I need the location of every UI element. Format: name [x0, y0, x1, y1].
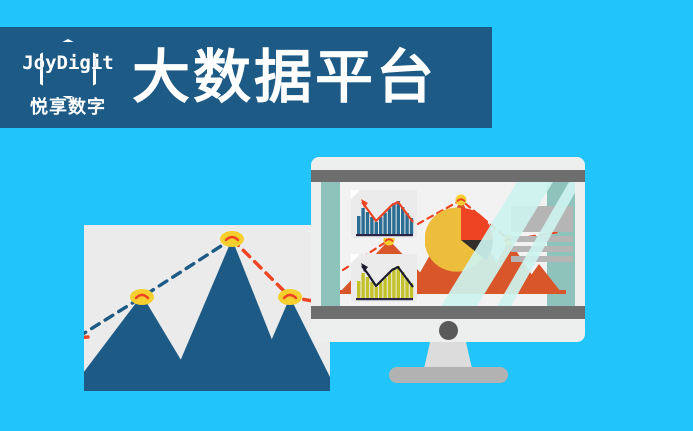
bar-chart-card-blue [351, 190, 417, 238]
monitor-bezel-bottom [311, 306, 585, 319]
document-line [511, 236, 573, 242]
page-title: 大数据平台 [132, 45, 437, 111]
brand-logo: JoyDigit 悦享数字 [14, 35, 122, 121]
document-line [511, 256, 573, 262]
pie-slice-b [461, 208, 493, 240]
blue-mountain-chart [84, 225, 330, 391]
monitor-stand-base [389, 367, 508, 383]
monitor-bezel-top [311, 170, 585, 182]
data-marker [130, 289, 154, 305]
monitor-screen [321, 182, 575, 306]
data-marker [220, 231, 244, 247]
header-banner: JoyDigit 悦享数字 大数据平台 [0, 27, 492, 128]
poster-canvas: JoyDigit 悦享数字 大数据平台 [0, 0, 693, 431]
logo-latin-text: JoyDigit [14, 52, 122, 74]
document-header-block [511, 206, 573, 232]
card-baseline [356, 298, 413, 300]
monitor-illustration [311, 157, 585, 342]
card-baseline [356, 234, 413, 236]
data-marker [278, 289, 302, 305]
left-chart-panel [84, 225, 330, 391]
webcam-dot-icon [439, 321, 458, 340]
pie-chart [425, 204, 497, 276]
document-widget [511, 206, 573, 262]
mountain-baseline [84, 383, 330, 391]
document-line [511, 246, 573, 252]
trend-dash-red-tail [84, 337, 88, 338]
bar-chart-card-olive [351, 254, 417, 302]
logo-chinese-text: 悦享数字 [14, 93, 122, 119]
